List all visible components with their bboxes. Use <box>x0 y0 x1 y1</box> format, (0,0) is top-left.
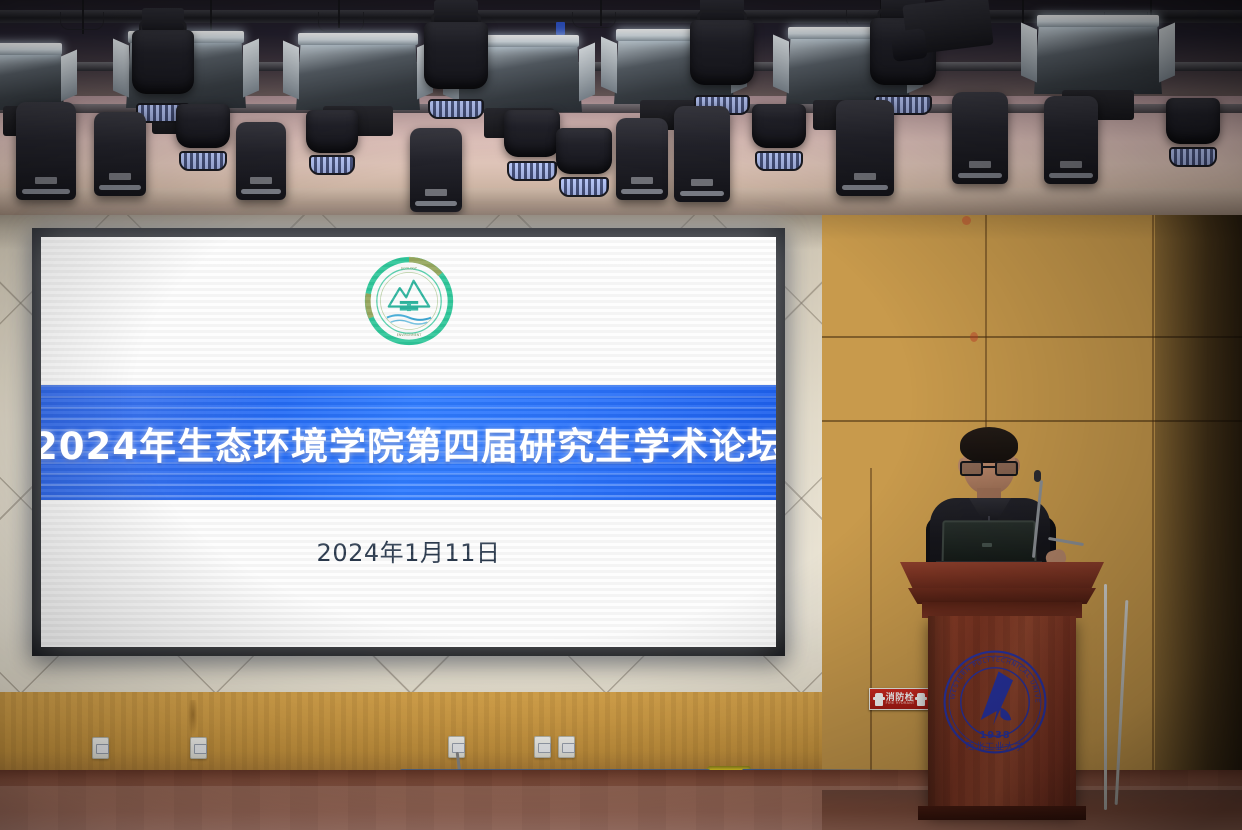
profile-spot-light <box>616 118 668 200</box>
profile-spot-light <box>94 112 146 196</box>
wall-socket[interactable] <box>534 736 551 758</box>
moving-head-light <box>1166 98 1220 160</box>
profile-spot-light <box>674 106 730 202</box>
fire-hydrant-sign: 消防栓 FIRE HYDRANT <box>869 688 931 710</box>
hydrant-icon <box>917 693 925 706</box>
microphone-head-icon <box>1034 470 1041 482</box>
hanging-wire <box>210 0 212 30</box>
wainscot-stain <box>188 700 198 736</box>
fire-sign-label-en: FIRE HYDRANT <box>886 702 915 705</box>
moving-head-light <box>306 110 358 168</box>
wall-socket[interactable] <box>92 737 109 759</box>
podium-top <box>900 562 1104 592</box>
laptop-logo-icon <box>982 543 992 547</box>
svg-text:ENVIRONMENT: ENVIRONMENT <box>396 333 422 337</box>
moving-head-light <box>424 22 488 112</box>
camera-lens-icon <box>890 28 927 62</box>
svg-text:1938: 1938 <box>979 730 1010 741</box>
ceiling-lighting-area <box>0 0 1242 215</box>
hydrant-icon <box>875 693 883 706</box>
slide-title-band: 2024年生态环境学院第四届研究生学术论坛 <box>41 385 776 500</box>
wall-wainscot <box>0 692 822 772</box>
college-emblem-icon: ECOLOGY ENVIRONMENT <box>363 255 455 347</box>
blue-gel-tape <box>556 22 565 35</box>
speaker-hair <box>960 427 1018 463</box>
profile-spot-light <box>16 102 76 200</box>
glasses-icon <box>960 461 1018 476</box>
wood-wall-vertical-seam <box>870 468 872 790</box>
moving-head-light <box>556 128 612 190</box>
moving-head-light <box>690 20 754 108</box>
wall-scuff-mark <box>962 216 971 225</box>
svg-text:ECOLOGY: ECOLOGY <box>401 267 418 271</box>
safety-cable <box>572 12 616 28</box>
university-seal-icon: NORTHWESTERN POLYTECHNICAL UNIVERSITY 19… <box>941 648 1049 756</box>
profile-spot-light <box>836 100 894 196</box>
moving-head-light <box>752 104 806 164</box>
safety-cable <box>318 12 364 32</box>
wall-scuff-mark <box>970 332 978 342</box>
svg-text:西北工业大学: 西北工业大学 <box>965 741 1024 753</box>
wall-socket[interactable] <box>190 737 207 759</box>
moving-head-light <box>176 104 230 164</box>
profile-spot-light <box>1044 96 1098 184</box>
moving-head-light <box>504 110 560 174</box>
profile-spot-light <box>952 92 1008 184</box>
podium-base <box>918 806 1086 820</box>
auditorium-scene: ECOLOGY ENVIRONMENT 2024年生态环境学院第四届研究生学术论… <box>0 0 1242 830</box>
projection-screen-frame: ECOLOGY ENVIRONMENT 2024年生态环境学院第四届研究生学术论… <box>32 228 785 656</box>
slide-title: 2024年生态环境学院第四届研究生学术论坛 <box>41 416 776 470</box>
wall-socket[interactable] <box>558 736 575 758</box>
podium-power-cable <box>1104 584 1107 810</box>
fresnel-light-fixture <box>296 38 420 110</box>
slide-date: 2024年1月11日 <box>41 533 776 568</box>
projection-screen[interactable]: ECOLOGY ENVIRONMENT 2024年生态环境学院第四届研究生学术论… <box>41 237 776 647</box>
fresnel-light-fixture <box>0 48 64 110</box>
profile-spot-light <box>410 128 462 212</box>
profile-spot-light <box>236 122 286 200</box>
fresnel-light-fixture <box>1034 20 1162 94</box>
safety-cable <box>60 12 104 30</box>
